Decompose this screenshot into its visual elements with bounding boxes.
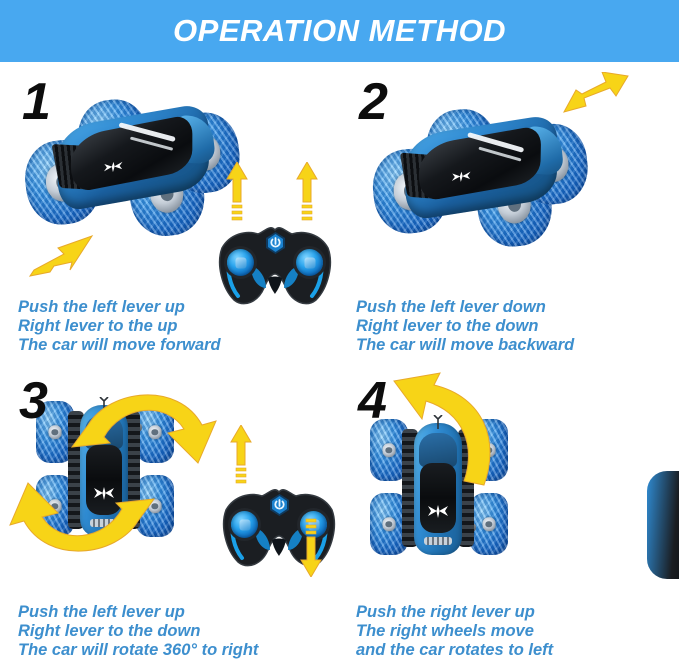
remote-control-1[interactable]: [216, 222, 334, 306]
panel-3-caption: Push the left lever up Right lever to th…: [18, 603, 258, 660]
power-icon: [266, 232, 285, 254]
panel-1-caption: Push the left lever up Right lever to th…: [18, 298, 221, 355]
caption-line: Right lever to the up: [18, 317, 221, 336]
left-lever[interactable]: [231, 511, 258, 538]
caption-line: Push the left lever down: [356, 298, 574, 317]
rotation-arrow-up-left-icon: [388, 371, 510, 489]
header-banner: OPERATION METHOD: [0, 0, 679, 62]
rc-car-perspective-2: [363, 89, 593, 261]
tire-rear-right: [470, 493, 508, 555]
panel-step-4: 4: [340, 363, 679, 664]
rear-vent: [424, 537, 452, 545]
right-lever-arrow-down-icon: [300, 515, 322, 577]
secondary-car-partial: [647, 471, 679, 579]
rotation-arrow-lower-icon: [6, 463, 156, 565]
instruction-panel-grid: 1: [0, 62, 679, 664]
caption-line: Push the left lever up: [18, 298, 221, 317]
step-number-4: 4: [358, 375, 387, 427]
left-lever[interactable]: [227, 249, 254, 276]
caption-line: The right wheels move: [356, 622, 553, 641]
caption-line: Push the right lever up: [356, 603, 553, 622]
car-motion-arrow-down-left-icon: [28, 232, 94, 280]
butterfly-emblem-icon: [426, 503, 450, 520]
step-number-2: 2: [359, 76, 388, 128]
caption-line: Right lever to the down: [356, 317, 574, 336]
step-number-1: 1: [22, 76, 51, 128]
step-number-3: 3: [19, 375, 48, 427]
caption-line: The car will move forward: [18, 336, 221, 355]
caption-line: Push the left lever up: [18, 603, 258, 622]
butterfly-emblem-icon: [450, 168, 473, 185]
right-lever-arrow-up-icon: [296, 162, 318, 224]
butterfly-emblem-icon: [102, 159, 125, 177]
caption-line: Right lever to the down: [18, 622, 258, 641]
right-lever[interactable]: [296, 249, 323, 276]
panel-4-caption: Push the right lever up The right wheels…: [356, 603, 553, 660]
panel-step-2: 2: [340, 62, 679, 363]
panel-step-1: 1: [0, 62, 340, 363]
caption-line: The car will rotate 360° to right: [18, 641, 258, 660]
panel-step-3: 3: [0, 363, 340, 664]
caption-line: The car will move backward: [356, 336, 574, 355]
panel-2-caption: Push the left lever down Right lever to …: [356, 298, 574, 355]
caption-line: and the car rotates to left: [356, 641, 553, 660]
car-body: [401, 118, 561, 217]
power-icon: [270, 494, 289, 516]
car-motion-arrow-up-right-icon: [562, 72, 630, 120]
left-lever-arrow-up-icon: [226, 162, 248, 224]
left-lever-arrow-up-icon: [230, 425, 252, 487]
page-title: OPERATION METHOD: [173, 13, 506, 49]
